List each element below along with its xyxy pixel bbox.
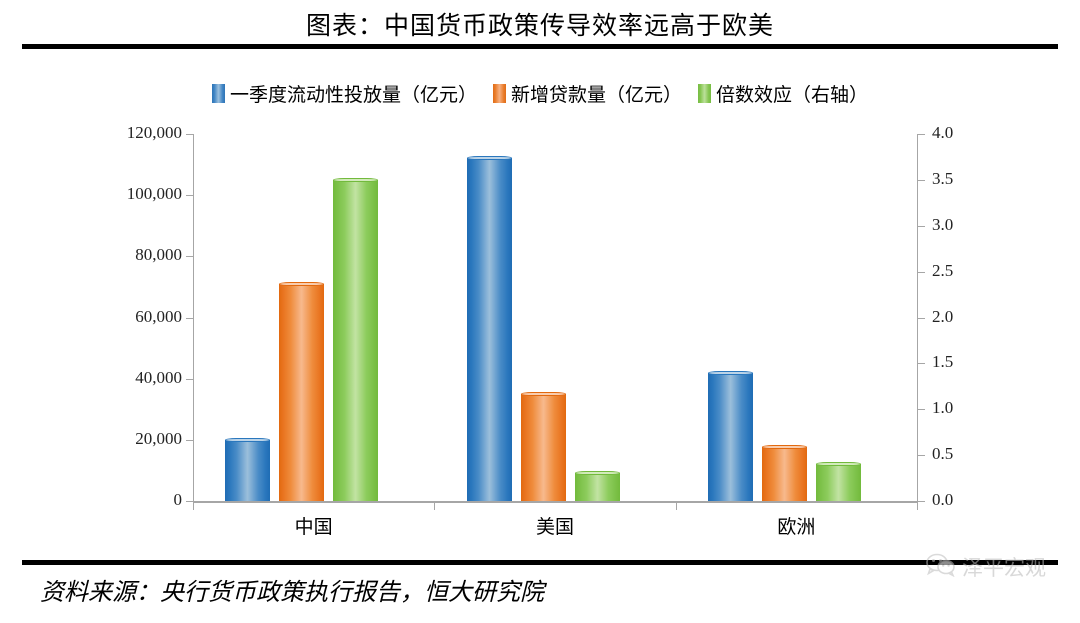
bar-body	[279, 284, 324, 501]
bar[interactable]	[467, 158, 512, 501]
right-axis-tick-label: 1.5	[932, 352, 982, 372]
bar[interactable]	[575, 473, 620, 501]
watermark-text: 泽平宏观	[962, 552, 1046, 582]
bar-body	[816, 464, 861, 501]
bar[interactable]	[816, 464, 861, 501]
plot-area: 020,00040,00060,00080,000100,000120,0000…	[0, 0, 1080, 623]
category-label: 美国	[495, 512, 615, 539]
category-axis-line	[193, 501, 918, 503]
right-axis-tick-label: 0.5	[932, 444, 982, 464]
left-axis-tick-label: 40,000	[98, 368, 182, 388]
right-axis-tick	[918, 134, 925, 135]
left-axis-tick-label: 80,000	[98, 245, 182, 265]
left-axis-tick	[186, 440, 193, 441]
right-axis-tick	[918, 363, 925, 364]
bar-cap	[575, 471, 620, 475]
left-axis-tick-label: 120,000	[98, 123, 182, 143]
right-axis-tick	[918, 180, 925, 181]
bar-cap	[708, 371, 753, 375]
right-axis-tick	[918, 318, 925, 319]
left-axis-tick-label: 0	[98, 490, 182, 510]
bar-body	[333, 180, 378, 501]
bar[interactable]	[762, 447, 807, 501]
bar-cap	[225, 438, 270, 442]
chart-page: 图表：中国货币政策传导效率远高于欧美 一季度流动性投放量（亿元）新增贷款量（亿元…	[0, 0, 1080, 623]
right-axis-tick	[918, 501, 925, 502]
bar-body	[225, 440, 270, 501]
category-label: 中国	[254, 512, 374, 539]
bar-cap	[816, 462, 861, 466]
bar-body	[762, 447, 807, 501]
bar[interactable]	[225, 440, 270, 501]
left-axis-tick	[186, 318, 193, 319]
right-axis-tick-label: 2.5	[932, 261, 982, 281]
bar-cap	[467, 156, 512, 160]
category-axis-tick	[676, 501, 677, 510]
category-label: 欧洲	[736, 512, 856, 539]
source-note: 资料来源：央行货币政策执行报告，恒大研究院	[40, 572, 544, 607]
category-axis-tick	[434, 501, 435, 510]
right-axis-tick-label: 3.0	[932, 215, 982, 235]
bar-cap	[333, 178, 378, 182]
category-axis-tick	[917, 501, 918, 510]
right-axis-tick-label: 4.0	[932, 123, 982, 143]
left-axis-tick-label: 100,000	[98, 184, 182, 204]
right-axis-tick-label: 0.0	[932, 490, 982, 510]
bar[interactable]	[708, 373, 753, 501]
bar-body	[575, 473, 620, 501]
bar[interactable]	[333, 180, 378, 501]
left-axis-tick-label: 20,000	[98, 429, 182, 449]
bar-cap	[279, 282, 324, 286]
bar[interactable]	[279, 284, 324, 501]
watermark: 泽平宏观	[926, 552, 1046, 582]
right-axis-tick	[918, 272, 925, 273]
bar[interactable]	[521, 394, 566, 501]
category-axis-tick	[193, 501, 194, 510]
right-axis-tick	[918, 409, 925, 410]
bar-body	[708, 373, 753, 501]
right-axis-tick	[918, 455, 925, 456]
left-axis-tick	[186, 134, 193, 135]
footer-divider	[22, 560, 1058, 565]
left-axis-line	[193, 134, 194, 502]
left-axis-tick	[186, 379, 193, 380]
right-axis-tick-label: 2.0	[932, 307, 982, 327]
bar-body	[467, 158, 512, 501]
bar-body	[521, 394, 566, 501]
wechat-icon	[926, 553, 956, 582]
left-axis-tick	[186, 195, 193, 196]
right-axis-tick-label: 3.5	[932, 169, 982, 189]
left-axis-tick	[186, 501, 193, 502]
bar-cap	[521, 392, 566, 396]
left-axis-tick-label: 60,000	[98, 307, 182, 327]
right-axis-tick-label: 1.0	[932, 398, 982, 418]
right-axis-tick	[918, 226, 925, 227]
left-axis-tick	[186, 256, 193, 257]
